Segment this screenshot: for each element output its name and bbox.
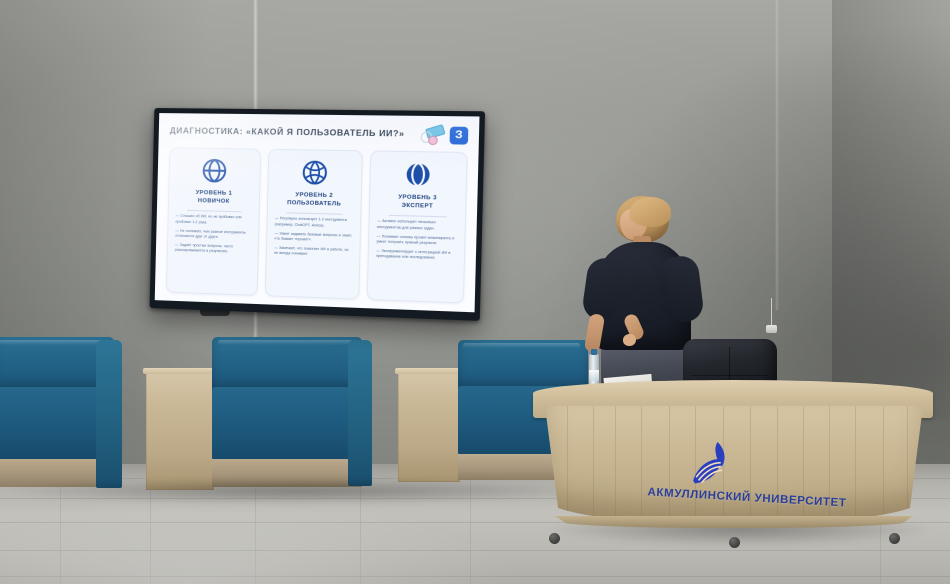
level-card-3-title: УРОВЕНЬ 3 ЭКСПЕРТ [398, 193, 437, 211]
side-table-top [143, 368, 217, 374]
slide-title: ДИАГНОСТИКА: «КАКОЙ Я ПОЛЬЗОВАТЕЛЬ ИИ?» [170, 122, 405, 138]
laptop-sticker-icon [421, 125, 445, 144]
side-table-top [395, 368, 463, 374]
tv-screen[interactable]: ДИАГНОСТИКА: «КАКОЙ Я ПОЛЬЗОВАТЕЛЬ ИИ?» … [155, 113, 480, 312]
level-cards: УРОВЕНЬ 1 НОВИЧОК — Слышал об ИИ, но не … [166, 147, 468, 303]
wall-panel-seam-2 [775, 0, 779, 310]
dot-icon [428, 136, 438, 146]
sofa-arm [96, 340, 122, 488]
level-1-sphere-icon [201, 157, 229, 185]
caster-middle [729, 537, 740, 548]
card-bullet: — Активно использует несколько инструмен… [377, 219, 458, 233]
level-2-sphere-icon [300, 159, 329, 187]
detector-wire [771, 298, 772, 326]
level-card-2[interactable]: УРОВЕНЬ 2 ПОЛЬЗОВАТЕЛЬ — Регулярно испол… [265, 149, 363, 300]
podium-desk[interactable]: АКМУЛЛИНСКИЙ УНИВЕРСИТЕТ [533, 380, 933, 550]
level-card-2-body: — Регулярно использует 1-2 инструмента (… [274, 216, 353, 262]
card-bullet: — Регулярно использует 1-2 инструмента (… [275, 216, 353, 229]
sofa-middle [212, 337, 362, 487]
card-bullet: — Не понимает, чем разные инструменты от… [175, 228, 251, 241]
presenter-hand [623, 334, 636, 346]
sofa-seat [212, 387, 362, 459]
slide-header: ДИАГНОСТИКА: «КАКОЙ Я ПОЛЬЗОВАТЕЛЬ ИИ?» … [170, 122, 469, 144]
sofa-highlight [463, 343, 580, 348]
wall-corner-shadow [832, 0, 950, 420]
wall-mounted-tv[interactable]: ДИАГНОСТИКА: «КАКОЙ Я ПОЛЬЗОВАТЕЛЬ ИИ?» … [150, 108, 486, 321]
akmulla-university-flame-logo [687, 440, 733, 490]
card-bullet: — Умеет задавать базовые вопросы и знает… [274, 231, 352, 245]
level-card-1-title: УРОВЕНЬ 1 НОВИЧОК [195, 189, 232, 207]
title-line-2: НОВИЧОК [195, 197, 232, 206]
sofa-back [212, 337, 362, 391]
card-divider [388, 214, 446, 216]
level-card-3-body: — Активно использует несколько инструмен… [376, 219, 457, 265]
level-card-1-body: — Слышал об ИИ, но не пробовал или пробо… [175, 214, 252, 259]
caster-right [889, 533, 900, 544]
bottle-cap [591, 349, 597, 355]
presenter-right-sleeve [663, 254, 705, 324]
side-table-1 [146, 372, 214, 490]
card-bullet: — Слышал об ИИ, но не пробовал или пробо… [175, 214, 251, 227]
card-bullet: — Задаёт простые вопросы, часто разочаро… [175, 242, 251, 256]
title-line-2: ПОЛЬЗОВАТЕЛЬ [287, 199, 341, 209]
card-bullet: — Замечает, что помогает ИИ в работе, но… [274, 245, 352, 259]
level-card-3[interactable]: УРОВЕНЬ 3 ЭКСПЕРТ — Активно использует н… [367, 150, 468, 303]
title-line-2: ЭКСПЕРТ [398, 202, 437, 211]
desk-base-rail [555, 516, 913, 528]
side-table-2 [398, 372, 460, 482]
sofa-highlight [218, 340, 353, 345]
card-divider [286, 212, 342, 214]
brand-logo-icon: З [450, 126, 469, 144]
card-divider [186, 209, 241, 211]
lecture-room-scene: ДИАГНОСТИКА: «КАКОЙ Я ПОЛЬЗОВАТЕЛЬ ИИ?» … [0, 0, 950, 584]
slide-header-graphics: З [421, 125, 469, 144]
sofa-floor-shadow [0, 478, 600, 504]
presentation-slide: ДИАГНОСТИКА: «КАКОЙ Я ПОЛЬЗОВАТЕЛЬ ИИ?» … [155, 113, 480, 312]
card-bullet: — Экспериментирует с интеграцией ИИ в пр… [376, 248, 456, 262]
sofa-highlight [0, 340, 107, 345]
sofa-left-arm [96, 340, 122, 488]
level-card-1[interactable]: УРОВЕНЬ 1 НОВИЧОК — Слышал об ИИ, но не … [166, 147, 261, 296]
presenter-hair-front [629, 197, 671, 227]
level-3-sphere-icon [403, 160, 433, 189]
level-card-2-title: УРОВЕНЬ 2 ПОЛЬЗОВАТЕЛЬ [287, 191, 341, 209]
caster-left [549, 533, 560, 544]
smoke-detector [766, 325, 777, 333]
sofa-arm [348, 340, 372, 486]
desk-front-panel: АКМУЛЛИНСКИЙ УНИВЕРСИТЕТ [545, 406, 923, 524]
sofa-middle-arm [348, 340, 372, 486]
card-bullet: — Понимает основы промпт-инжиниринга и у… [376, 234, 456, 248]
chair-horizontal-seam [691, 375, 769, 376]
tv-bezel: ДИАГНОСТИКА: «КАКОЙ Я ПОЛЬЗОВАТЕЛЬ ИИ?» … [150, 108, 486, 321]
